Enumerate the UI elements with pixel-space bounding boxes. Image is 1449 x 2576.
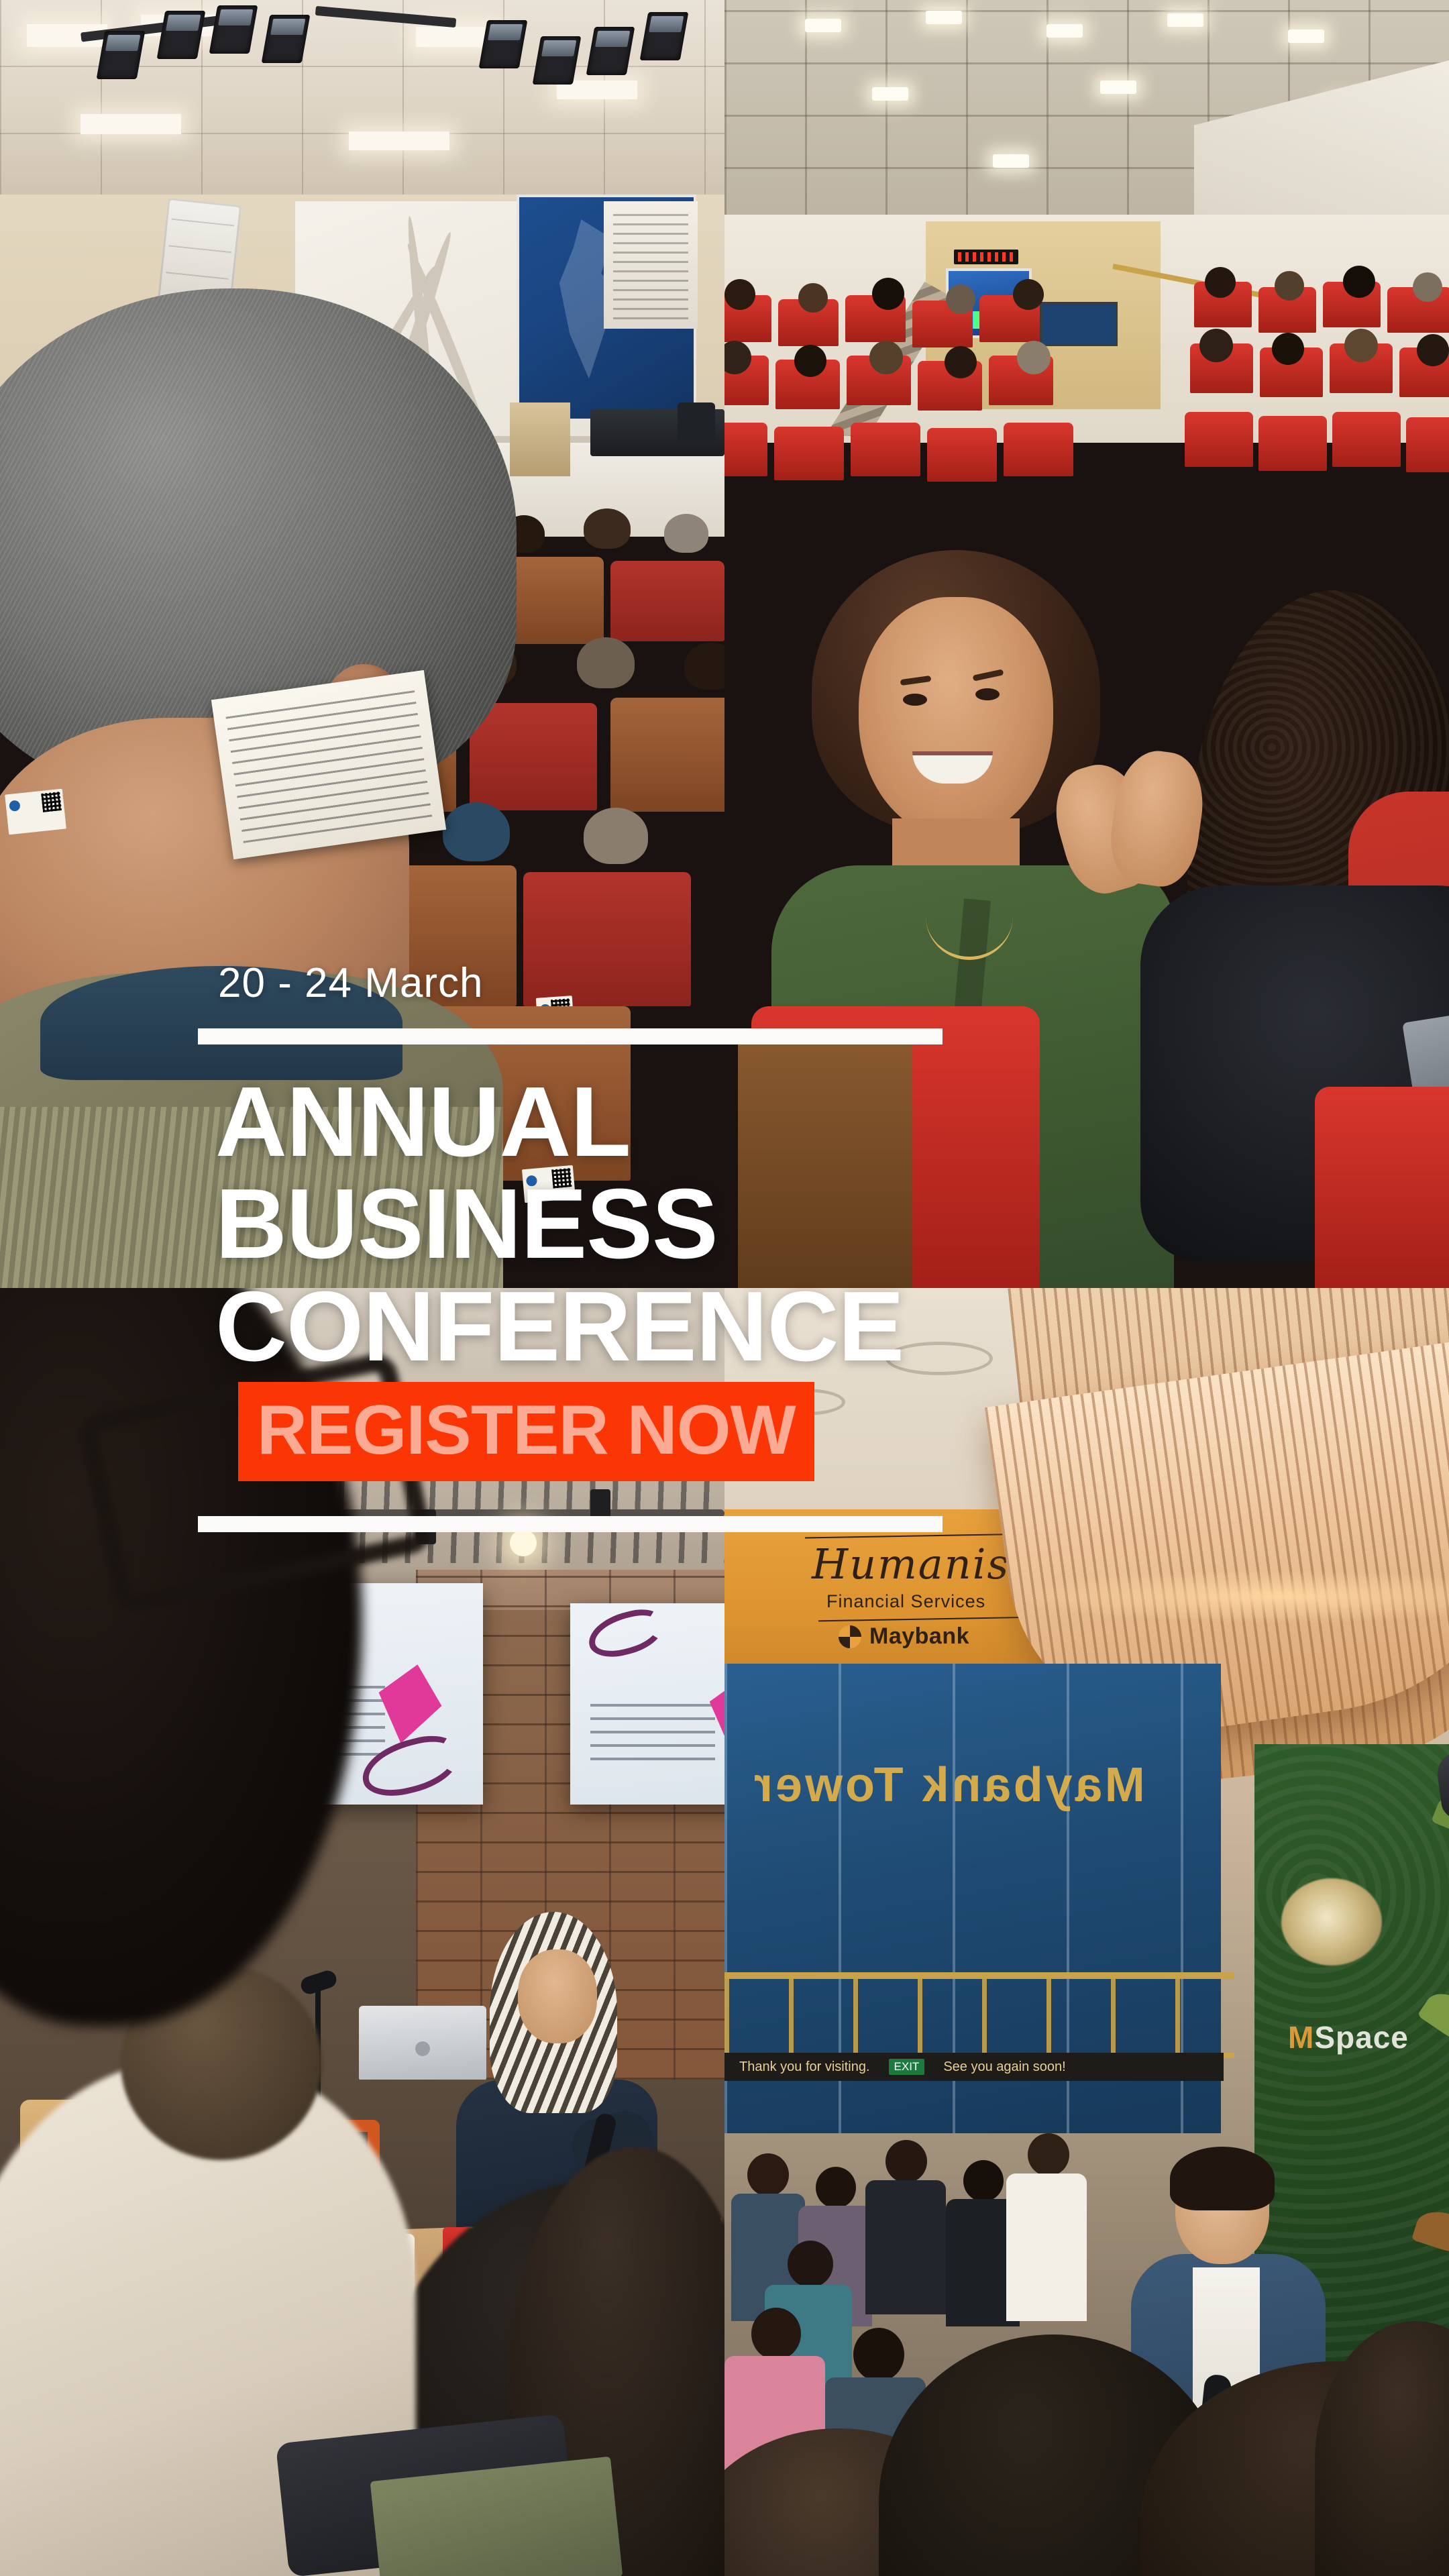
photo-top-left [0,0,724,1288]
ceiling-light [349,131,449,150]
poster-canvas: Humanising Financial Services Maybank Ma… [0,0,1449,2576]
audience-head [584,508,631,549]
escalator-balustrade [724,1972,1234,2058]
wall-poster [604,201,698,329]
ceiling-spotlight [590,1489,610,1524]
ceiling-downlight [1288,30,1324,43]
ceiling-downlight [805,19,841,32]
photo-bottom-left [0,1288,724,2576]
auditorium-seat [610,698,724,812]
maybank-tower-reflection: Maybank Tower [751,1758,1145,1813]
left-seat-block [724,295,1060,577]
front-row-seat [1315,1087,1449,1288]
slide-text [590,1696,715,1760]
ceiling-downlight [1046,24,1083,38]
seat-armrest [738,1033,912,1288]
photo-grid: Humanising Financial Services Maybank Ma… [0,0,1449,2576]
match-clock-display [954,250,1018,264]
attendee [865,2140,946,2314]
mall-thanks-text: Thank you for visiting. [739,2059,870,2075]
ceiling-vent-ring [885,1342,993,1375]
attendee [1006,2133,1087,2321]
audience-head [684,643,724,690]
mspace-logo-name: Space [1314,2020,1409,2055]
mspace-logo: MSpace [1288,2019,1409,2055]
maybank-brand-name: Maybank [869,1623,969,1650]
eye [975,688,1000,700]
stage-lamp [479,20,528,68]
floral-arrangement [1281,1878,1382,1966]
maybank-brand-row: Maybank [839,1623,969,1650]
ceiling-downlight [1167,13,1203,27]
ceiling-downlight [872,87,908,101]
exit-sign: EXIT [889,2059,925,2075]
maybank-logo-icon [839,1625,861,1648]
ceiling-vent-ring [765,1389,845,1415]
audience-head [577,637,635,688]
ceiling-downlight [1100,80,1136,94]
ceiling-light [80,114,181,134]
stage-lamp [97,31,146,79]
womans-face [859,597,1053,839]
pendant-bulb [510,1529,537,1556]
right-seat-block [1194,282,1449,577]
mall-bye-text: See you again soon! [943,2059,1065,2075]
stage-chair [678,402,715,443]
audience-head [584,808,648,864]
mspace-logo-mark: M [1288,2020,1314,2055]
mans-collar [40,966,402,1080]
poster-text-lines [613,211,688,319]
mall-message-board: Thank you for visiting. EXIT See you aga… [724,2053,1224,2081]
stage-lamp [640,12,689,60]
stage-lamp [533,36,582,85]
sweater-knit-trim [0,1107,503,1288]
presenter-face [518,1949,597,2043]
stage-lamp [262,15,311,63]
ceiling-downlight [993,154,1029,168]
stage-lamp [586,27,635,75]
eye [903,694,927,706]
stage-lamp [209,5,258,54]
stage-lamp [157,11,206,59]
cove-light-glow [1013,1570,1449,1623]
presentation-screen-right [570,1603,724,1805]
maybank-tagline-sub: Financial Services [826,1591,985,1612]
program-booklet [211,670,446,859]
seat-qr-card [5,789,66,835]
host-hair [1170,2147,1275,2210]
slide-swirl-graphic [584,1604,668,1663]
auditorium-seat [610,561,724,641]
ceiling-downlight [926,11,962,24]
photo-top-right [724,0,1449,1288]
photo-bottom-right: Humanising Financial Services Maybank Ma… [724,1288,1449,2576]
audience-head [664,514,708,553]
